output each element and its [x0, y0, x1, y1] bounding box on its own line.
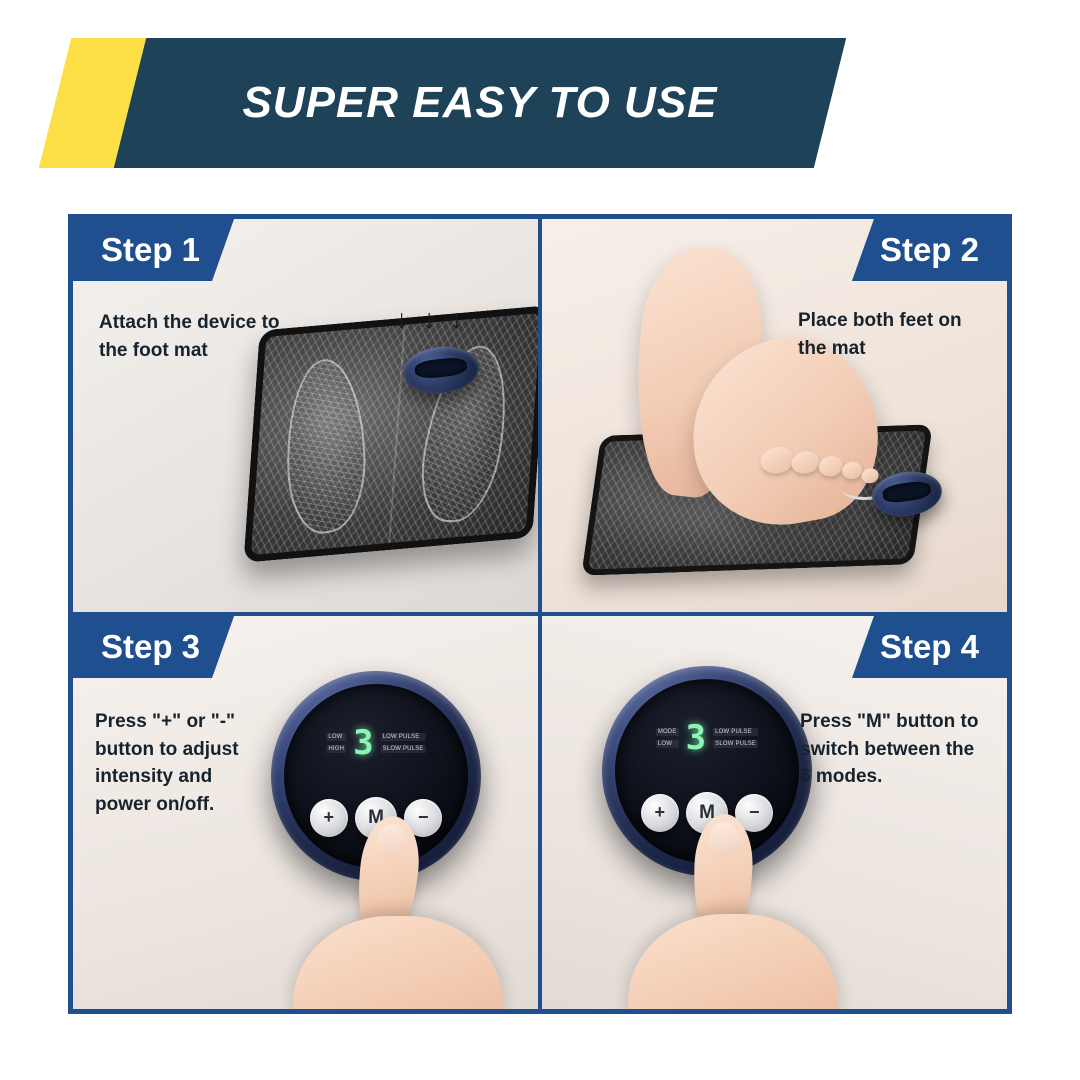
display-labels-right: LOW PULSE SLOW PULSE — [381, 733, 426, 753]
steps-grid: Step 1 Attach the device to the foot mat… — [68, 214, 1012, 1014]
palm — [293, 916, 503, 1011]
display-label: LOW — [656, 740, 679, 748]
page-title: SUPER EASY TO USE — [150, 38, 810, 168]
display-label: SLOW PULSE — [713, 740, 758, 748]
display-label: HIGH — [326, 745, 346, 753]
step-3-panel: Step 3 Press "+" or "-" button to adjust… — [71, 614, 540, 1011]
display-labels-left: MODE LOW — [656, 728, 679, 748]
step-1-label: Step 1 — [71, 219, 234, 281]
display-labels-left: LOW HIGH — [326, 733, 346, 753]
attach-arrows: ↓ ↓ ↓ — [395, 304, 464, 335]
display-label: LOW PULSE — [381, 733, 426, 741]
step-1-caption: Attach the device to the foot mat — [99, 309, 309, 364]
fingernail — [375, 823, 408, 860]
step-2-label: Step 2 — [852, 219, 1009, 281]
header-banner: SUPER EASY TO USE — [0, 38, 1080, 168]
plus-button[interactable]: + — [310, 799, 348, 837]
step-1-panel: Step 1 Attach the device to the foot mat… — [71, 217, 540, 614]
step-2-panel: Step 2 Place both feet on the mat — [540, 217, 1009, 614]
down-arrow-icon: ↓ — [423, 304, 437, 335]
display-label: LOW PULSE — [713, 728, 758, 736]
remote-display: MODE LOW 3 LOW PULSE SLOW PULSE — [652, 710, 762, 765]
step-3-caption: Press "+" or "-" button to adjust intens… — [95, 708, 270, 818]
footprint-left-graphic — [284, 352, 368, 540]
step-4-panel: Step 4 Press "M" button to switch betwee… — [540, 614, 1009, 1011]
step-4-caption: Press "M" button to switch between the 6… — [800, 708, 985, 791]
step-3-label: Step 3 — [71, 616, 234, 678]
display-label: SLOW PULSE — [381, 745, 426, 753]
mode-value: 3 — [686, 721, 706, 755]
step-4-label: Step 4 — [852, 616, 1009, 678]
intensity-value: 3 — [353, 726, 373, 760]
down-arrow-icon: ↓ — [450, 304, 464, 335]
display-label: LOW — [326, 733, 346, 741]
down-arrow-icon: ↓ — [395, 304, 409, 335]
step-2-caption: Place both feet on the mat — [798, 307, 983, 362]
fingernail — [709, 822, 740, 857]
display-labels-right: LOW PULSE SLOW PULSE — [713, 728, 758, 748]
palm — [628, 914, 838, 1011]
display-label: MODE — [656, 728, 679, 736]
remote-display: LOW HIGH 3 LOW PULSE SLOW PULSE — [321, 715, 431, 770]
plus-button[interactable]: + — [641, 794, 679, 832]
